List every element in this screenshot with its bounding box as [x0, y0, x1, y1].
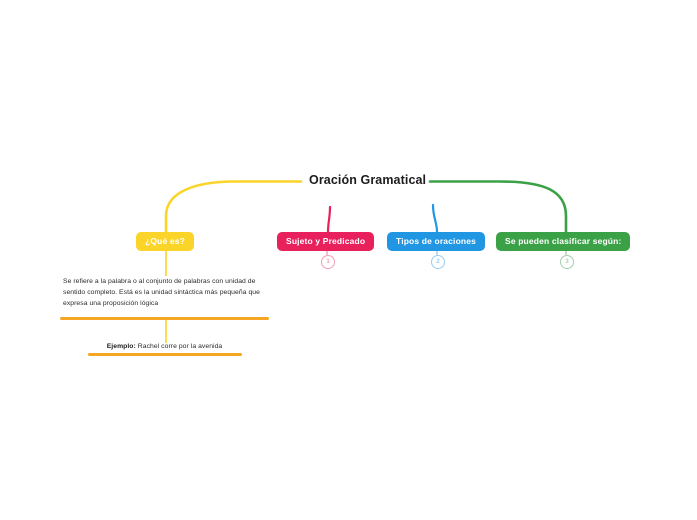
- edge-tipos: [433, 205, 437, 232]
- expand-badge-tipos-icon[interactable]: 2: [431, 255, 445, 269]
- expand-badge-clasificar-icon[interactable]: 3: [560, 255, 574, 269]
- root-node-title[interactable]: Oración Gramatical: [309, 174, 426, 187]
- example-note[interactable]: Ejemplo: Rachel corre por la avenida: [63, 342, 266, 352]
- edge-sujeto: [328, 207, 330, 232]
- example-value: Rachel corre por la avenida: [138, 343, 222, 350]
- node-se-pueden-clasificar-segun[interactable]: Se pueden clasificar según:: [496, 232, 630, 251]
- edge-clasificar: [430, 182, 566, 233]
- description-underline: [60, 317, 269, 320]
- node-tipos-de-oraciones[interactable]: Tipos de oraciones: [387, 232, 485, 251]
- node-que-es[interactable]: ¿Qué es?: [136, 232, 194, 251]
- mindmap-canvas[interactable]: Oración Gramatical ¿Qué es? Sujeto y Pre…: [0, 0, 697, 520]
- mindmap-edges: [0, 0, 697, 520]
- expand-badge-sujeto-icon[interactable]: 1: [321, 255, 335, 269]
- example-underline: [88, 353, 242, 356]
- description-note[interactable]: Se refiere a la palabra o al conjunto de…: [63, 276, 266, 309]
- node-sujeto-y-predicado[interactable]: Sujeto y Predicado: [277, 232, 374, 251]
- edge-que-es: [166, 182, 301, 233]
- example-label: Ejemplo:: [107, 343, 136, 350]
